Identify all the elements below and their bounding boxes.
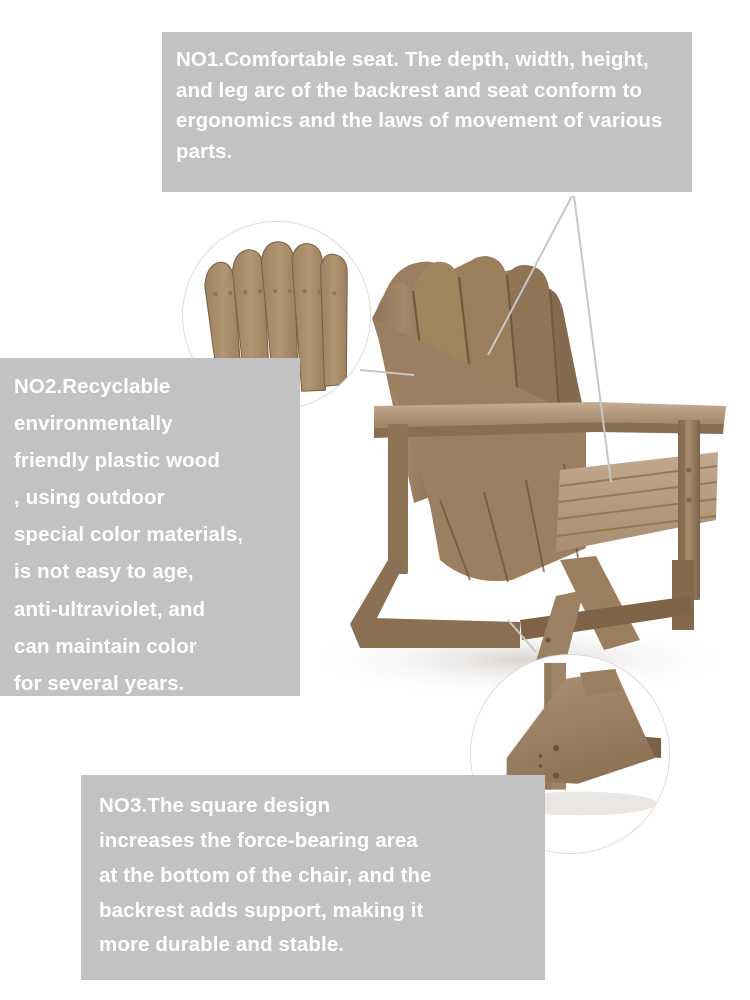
callout-panel-no1: NO1.Comfortable seat. The depth, width, … [162,32,692,192]
callout-panel-no3: NO3.The square design increases the forc… [81,775,545,980]
product-infographic-poster: NO1.Comfortable seat. The depth, width, … [0,0,750,1000]
callout-panel-no2: NO2.Recyclable environmentally friendly … [0,358,300,696]
